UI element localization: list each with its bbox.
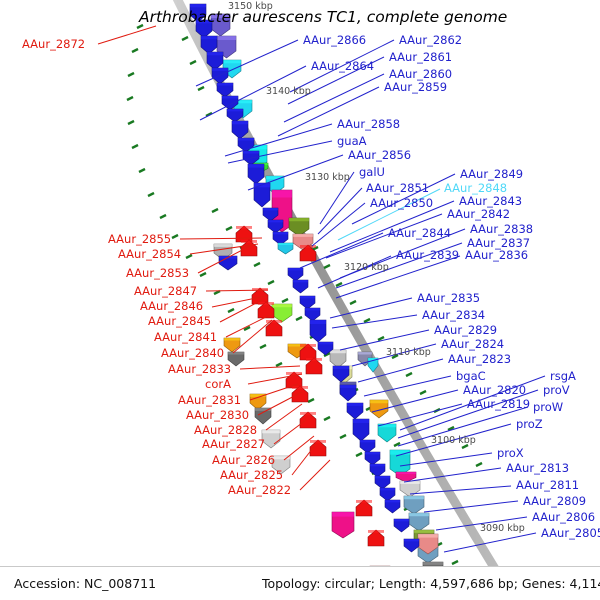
gene-label[interactable]: proZ <box>516 417 543 431</box>
gene-label[interactable]: AAur_2858 <box>337 117 400 131</box>
gene-highlight <box>332 512 354 517</box>
rna-tick-icon <box>132 49 138 52</box>
gene-highlight <box>418 534 438 538</box>
gene-glyph-feature[interactable] <box>332 512 354 538</box>
gene-label[interactable]: AAur_2828 <box>194 423 257 437</box>
leader-line <box>404 468 501 482</box>
gene-label[interactable]: AAur_2820 <box>463 383 526 397</box>
gene-glyph-reverse[interactable] <box>236 226 252 242</box>
gene-highlight <box>217 83 233 86</box>
gene-label[interactable]: AAur_2866 <box>303 33 366 47</box>
ruler-tick-label: 3090 kbp <box>480 523 525 534</box>
gene-label[interactable]: bgaC <box>456 369 486 383</box>
gene-label[interactable]: AAur_2862 <box>399 33 462 47</box>
gene-glyph-feature[interactable] <box>409 513 429 531</box>
gene-highlight <box>394 519 409 521</box>
gene-glyph-forward[interactable] <box>380 488 395 501</box>
gene-glyph-reverse[interactable] <box>241 240 257 256</box>
gene-glyph-forward[interactable] <box>305 308 320 321</box>
gene-label[interactable]: AAur_2864 <box>311 59 374 73</box>
gene-glyph-feature[interactable] <box>330 350 346 368</box>
gene-highlight <box>404 496 424 499</box>
ruler-tick-label: 3110 kbp <box>386 347 431 358</box>
gene-label[interactable]: AAur_2854 <box>118 247 181 261</box>
rna-tick-icon <box>226 227 232 230</box>
rna-tick-icon <box>336 283 342 286</box>
gene-glyph-reverse[interactable] <box>300 412 316 428</box>
gene-label[interactable]: AAur_2839 <box>396 248 459 262</box>
gene-glyph-forward[interactable] <box>300 296 315 309</box>
gene-highlight <box>289 218 309 221</box>
rna-tick-icon <box>214 291 220 294</box>
rna-tick-icon <box>378 337 384 340</box>
gene-label[interactable]: AAur_2826 <box>212 453 275 467</box>
gene-label[interactable]: AAur_2809 <box>523 494 586 508</box>
gene-label[interactable]: AAur_2831 <box>178 393 241 407</box>
gene-highlight <box>305 308 320 310</box>
gene-label[interactable]: AAur_2823 <box>448 352 511 366</box>
rna-tick-icon <box>198 87 204 90</box>
rna-tick-icon <box>364 319 370 322</box>
gene-highlight <box>340 385 356 388</box>
gene-label[interactable]: AAur_2822 <box>228 483 291 497</box>
ruler-tick-label: 3140 kbp <box>266 86 311 97</box>
rna-tick-icon <box>132 145 138 148</box>
gene-highlight <box>385 500 400 502</box>
gene-label[interactable]: AAur_2805 <box>541 526 600 540</box>
rna-tick-icon <box>212 209 218 212</box>
gene-glyph-feature[interactable] <box>289 218 309 236</box>
rna-tick-icon <box>160 215 166 218</box>
gene-glyph-forward[interactable] <box>370 464 385 477</box>
gene-highlight <box>330 350 346 353</box>
gene-glyph-forward[interactable] <box>394 519 409 532</box>
genome-summary-text: Topology: circular; Length: 4,597,686 bp… <box>262 576 600 591</box>
rna-tick-icon <box>260 345 266 348</box>
gene-highlight <box>380 488 395 490</box>
gene-highlight <box>224 338 240 341</box>
rna-tick-icon <box>182 37 188 40</box>
gene-highlight <box>243 151 259 154</box>
gene-glyph-feature[interactable] <box>255 408 271 424</box>
gene-glyph-feature[interactable] <box>404 496 424 514</box>
gene-reverse-strand[interactable] <box>236 226 384 546</box>
gene-label[interactable]: AAur_2848 <box>444 181 507 195</box>
gene-glyph-reverse[interactable] <box>368 530 384 546</box>
gene-highlight <box>414 530 434 533</box>
rna-tick-icon <box>200 273 206 276</box>
gene-label[interactable]: AAur_2856 <box>348 148 411 162</box>
rna-tick-icon <box>186 255 192 258</box>
gene-highlight <box>356 500 372 503</box>
rna-tick-icon <box>276 363 282 366</box>
gene-highlight <box>370 464 385 466</box>
gene-label[interactable]: AAur_2842 <box>447 207 510 221</box>
gene-highlight <box>360 440 375 442</box>
gene-label[interactable]: corA <box>205 377 231 391</box>
rna-tick-icon <box>128 121 134 124</box>
leader-line <box>444 533 536 552</box>
gene-glyph-forward[interactable] <box>293 280 308 293</box>
gene-label[interactable]: AAur_2835 <box>417 291 480 305</box>
gene-highlight <box>212 68 228 71</box>
gene-glyph-forward[interactable] <box>404 539 419 552</box>
gene-label[interactable]: proX <box>497 446 524 460</box>
page-title: Arthrobacter aurescens TC1, complete gen… <box>138 8 507 26</box>
gene-label[interactable]: galU <box>359 165 385 179</box>
rna-tick-icon <box>420 391 426 394</box>
gene-label[interactable]: AAur_2859 <box>384 80 447 94</box>
gene-glyph-forward[interactable] <box>288 268 303 281</box>
gene-label[interactable]: AAur_2806 <box>532 510 595 524</box>
rna-tick-icon <box>190 61 196 64</box>
gene-glyph-feature[interactable] <box>224 338 240 352</box>
gene-highlight <box>222 96 238 99</box>
rna-tick-icon <box>356 453 362 456</box>
gene-highlight <box>293 234 313 237</box>
leader-line <box>300 460 330 490</box>
rna-tick-icon <box>340 435 346 438</box>
gene-highlight <box>207 52 223 55</box>
gene-label[interactable]: AAur_2825 <box>220 468 283 482</box>
gene-label[interactable]: guaA <box>337 134 367 148</box>
gene-label[interactable]: AAur_2851 <box>366 181 429 195</box>
gene-label[interactable]: AAur_2841 <box>154 330 217 344</box>
gene-highlight <box>258 302 274 305</box>
gene-glyph-reverse[interactable] <box>258 302 274 318</box>
gene-highlight <box>300 344 316 347</box>
gene-glyph-reverse[interactable] <box>292 386 308 402</box>
gene-glyph-reverse[interactable] <box>306 358 322 374</box>
gene-glyph-reverse[interactable] <box>356 500 372 516</box>
ruler-tick-label: 3130 kbp <box>305 172 350 183</box>
gene-glyph-forward[interactable] <box>353 419 369 441</box>
gene-highlight <box>232 121 248 124</box>
gene-highlight <box>358 352 372 355</box>
gene-highlight <box>390 450 410 455</box>
gene-glyph-feature[interactable] <box>272 304 292 322</box>
gene-label[interactable]: AAur_2838 <box>470 222 533 236</box>
gene-highlight <box>368 530 384 533</box>
leader-line <box>292 444 316 475</box>
rna-tick-icon <box>296 317 302 320</box>
gene-highlight <box>370 400 388 403</box>
leader-line <box>98 26 156 44</box>
gene-glyph-forward[interactable] <box>310 320 326 342</box>
gene-label[interactable]: AAur_2845 <box>148 314 211 328</box>
gene-label[interactable]: AAur_2836 <box>465 248 528 262</box>
gene-label[interactable]: AAur_2853 <box>126 266 189 280</box>
gene-highlight <box>228 352 244 355</box>
gene-highlight <box>272 304 292 307</box>
gene-highlight <box>396 472 416 474</box>
gene-glyph-forward[interactable] <box>248 164 264 184</box>
leader-line <box>233 320 272 353</box>
leader-line <box>284 436 314 460</box>
gene-label[interactable]: AAur_2855 <box>108 232 171 246</box>
gene-highlight <box>214 244 232 247</box>
gene-highlight <box>375 476 390 478</box>
gene-label[interactable]: AAur_2813 <box>506 461 569 475</box>
gene-highlight <box>306 358 322 361</box>
gene-highlight <box>365 452 380 454</box>
gene-glyph-feature[interactable] <box>378 424 396 442</box>
rna-tick-icon <box>350 301 356 304</box>
status-bar: Accession: NC_008711 Topology: circular;… <box>0 566 600 600</box>
gene-highlight <box>236 226 252 229</box>
gene-label[interactable]: AAur_2861 <box>389 50 452 64</box>
gene-label[interactable]: AAur_2850 <box>370 196 433 210</box>
gene-highlight <box>310 320 326 324</box>
rna-tick-icon <box>128 73 134 76</box>
leader-line <box>240 366 300 369</box>
gene-highlight <box>273 232 288 234</box>
rna-tick-icon <box>254 263 260 266</box>
gene-label[interactable]: AAur_2811 <box>516 478 579 492</box>
rna-tick-icon <box>228 309 234 312</box>
gene-label[interactable]: AAur_2833 <box>168 362 231 376</box>
gene-glyph-reverse[interactable] <box>300 245 316 261</box>
gene-glyph-forward[interactable] <box>385 500 400 513</box>
leader-line <box>410 486 511 494</box>
gene-highlight <box>347 403 363 406</box>
gene-highlight <box>293 280 308 282</box>
rna-tick-icon <box>127 97 133 100</box>
gene-highlight <box>238 138 254 141</box>
gene-glyph-feature[interactable] <box>250 394 266 410</box>
gene-highlight <box>300 412 316 415</box>
gene-highlight <box>404 539 419 541</box>
rna-tick-icon <box>148 193 154 196</box>
rna-tick-icon <box>139 169 145 172</box>
leader-line <box>424 501 518 512</box>
gene-highlight <box>423 562 443 565</box>
rna-tick-icon <box>476 463 482 466</box>
rna-tick-icon <box>268 281 274 284</box>
genome-viewer-canvas[interactable]: AAur_2866AAur_2862AAur_2864AAur_2861AAur… <box>0 0 600 600</box>
gene-label[interactable]: AAur_2849 <box>460 167 523 181</box>
accession-text: Accession: NC_008711 <box>14 576 156 591</box>
gene-highlight <box>310 440 326 443</box>
gene-label[interactable]: AAur_2860 <box>389 67 452 81</box>
gene-highlight <box>278 243 293 245</box>
gene-highlight <box>300 296 315 298</box>
gene-label[interactable]: proV <box>543 383 570 397</box>
gene-highlight <box>227 109 243 111</box>
gene-label[interactable]: AAur_2843 <box>459 194 522 208</box>
gene-glyph-forward[interactable] <box>360 440 375 453</box>
leader-line <box>364 376 451 396</box>
gene-highlight <box>262 430 280 433</box>
gene-label[interactable]: proW <box>533 400 563 414</box>
gene-label[interactable]: AAur_2829 <box>434 323 497 337</box>
gene-highlight <box>409 513 429 516</box>
gene-glyph-forward[interactable] <box>340 385 356 401</box>
gene-glyph-forward[interactable] <box>347 403 363 419</box>
gene-label[interactable]: AAur_2819 <box>467 397 530 411</box>
leader-line <box>220 300 262 322</box>
gene-label[interactable]: AAur_2840 <box>161 346 224 360</box>
gene-label[interactable]: AAur_2844 <box>388 226 451 240</box>
gene-highlight <box>263 208 278 210</box>
rna-tick-icon <box>308 399 314 402</box>
gene-label[interactable]: AAur_2846 <box>140 299 203 313</box>
gene-highlight <box>300 245 316 248</box>
gene-label[interactable]: AAur_2827 <box>202 437 265 451</box>
rna-tick-icon <box>452 561 458 564</box>
gene-highlight <box>201 36 217 39</box>
gene-highlight <box>217 36 236 40</box>
gene-highlight <box>272 190 292 198</box>
gene-highlight <box>288 268 303 270</box>
rna-tick-icon <box>324 265 330 268</box>
gene-glyph-forward[interactable] <box>278 243 293 254</box>
gene-label[interactable]: AAur_2824 <box>441 337 504 351</box>
gene-highlight <box>223 60 241 63</box>
gene-glyph-forward[interactable] <box>365 452 380 465</box>
gene-highlight <box>190 4 206 7</box>
gene-highlight <box>318 342 333 344</box>
ruler-tick-label: 3100 kbp <box>431 435 476 446</box>
ruler-tick-label: 3120 kbp <box>344 262 389 273</box>
gene-highlight <box>333 366 349 369</box>
gene-label[interactable]: rsgA <box>550 369 576 383</box>
gene-glyph-feature[interactable] <box>219 256 237 270</box>
gene-highlight <box>292 386 308 389</box>
rna-tick-icon <box>172 235 178 238</box>
gene-label[interactable]: AAur_2847 <box>134 284 197 298</box>
gene-glyph-forward[interactable] <box>375 476 390 489</box>
rna-tick-icon <box>324 417 330 420</box>
gene-glyph-feature[interactable] <box>400 481 420 497</box>
gene-highlight <box>353 419 369 423</box>
gene-label[interactable]: AAur_2830 <box>186 408 249 422</box>
rna-tick-icon <box>406 373 412 376</box>
genome-map-svg[interactable]: AAur_2866AAur_2862AAur_2864AAur_2861AAur… <box>0 0 600 600</box>
gene-label[interactable]: AAur_2872 <box>22 37 85 51</box>
gene-label[interactable]: AAur_2834 <box>422 308 485 322</box>
gene-highlight <box>268 220 283 222</box>
gene-glyph-reverse[interactable] <box>300 344 316 360</box>
gene-highlight <box>248 164 264 168</box>
rna-tick-icon <box>282 299 288 302</box>
gene-highlight <box>241 240 257 243</box>
